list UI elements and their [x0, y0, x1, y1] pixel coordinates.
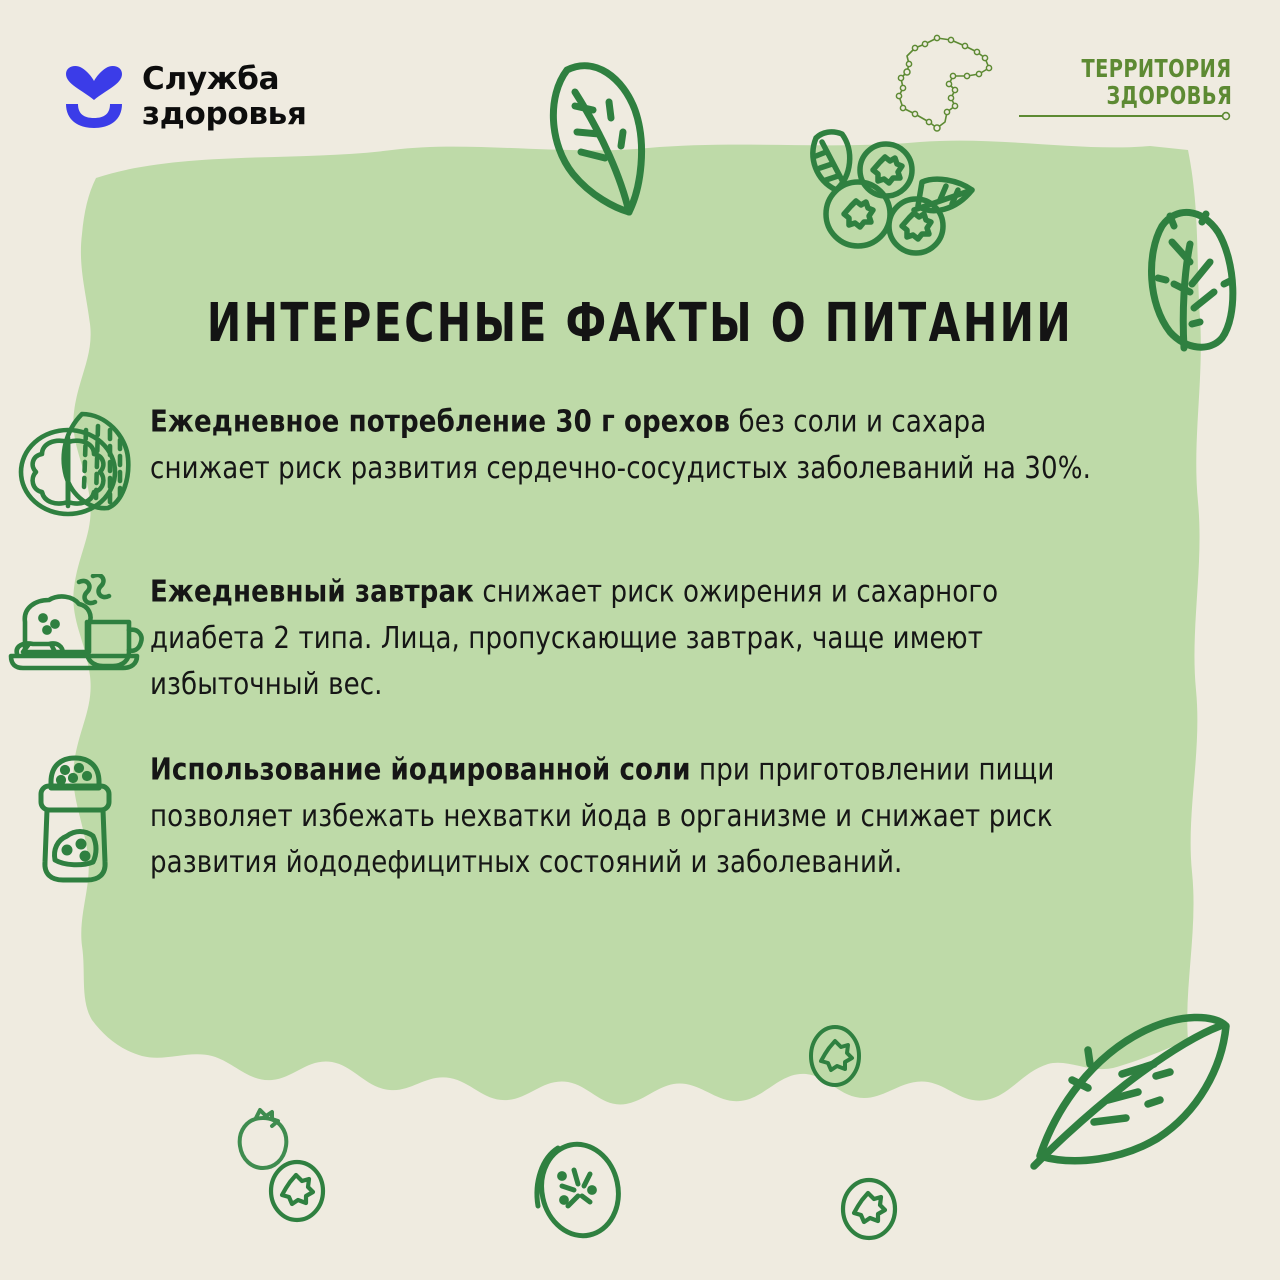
brand-name: Служба здоровья	[142, 62, 307, 131]
facts-list: Ежедневное потребление 30 г орехов без с…	[0, 398, 1280, 924]
leaf-bottom-right-icon	[1030, 1000, 1230, 1170]
salt-shaker-icon	[23, 752, 127, 884]
fact-2-text-bold: Ежедневный завтрак	[150, 573, 474, 609]
breakfast-tray-icon	[5, 574, 145, 684]
leaf-top-center-icon	[543, 48, 675, 218]
berry-slice-bottom-right-icon	[838, 1176, 900, 1242]
fact-2-text: Ежедневный завтрак снижает риск ожирения…	[150, 568, 1110, 707]
fact-1-icon-slot	[0, 398, 150, 522]
fact-3-text-bold: Использование йодированной соли	[150, 751, 691, 787]
walnut-icon	[14, 404, 136, 522]
berry-slice-bottom-left-icon	[266, 1158, 328, 1224]
territory-logo-text: ТЕРРИТОРИЯ ЗДОРОВЬЯ	[1017, 55, 1232, 122]
fact-2-icon-slot	[0, 568, 150, 684]
berry-cluster-icon	[796, 128, 976, 268]
territory-logo-line2: ЗДОРОВЬЯ	[1106, 82, 1232, 109]
fact-item-nuts: Ежедневное потребление 30 г орехов без с…	[0, 398, 1280, 522]
fact-item-breakfast: Ежедневный завтрак снижает риск ожирения…	[0, 568, 1280, 700]
fact-1-text: Ежедневное потребление 30 г орехов без с…	[150, 398, 1110, 491]
berry-slice-mid-right-icon	[805, 1022, 865, 1090]
territory-logo-line1: ТЕРРИТОРИЯ	[1082, 55, 1232, 82]
fact-3-text: Использование йодированной соли при приг…	[150, 746, 1110, 885]
fact-item-iodized-salt: Использование йодированной соли при приг…	[0, 746, 1280, 884]
region-map-outline-icon	[889, 34, 1011, 138]
territory-health-logo: ТЕРРИТОРИЯ ЗДОРОВЬЯ	[889, 34, 1232, 138]
fact-3-icon-slot	[0, 746, 150, 884]
heart-smile-logo-icon	[62, 64, 126, 130]
page-title: ИНТЕРЕСНЫЕ ФАКТЫ О ПИТАНИИ	[19, 292, 1261, 355]
cucumber-slice-icon	[528, 1132, 626, 1242]
brand-logo: Служба здоровья	[62, 62, 307, 131]
territory-logo-underline-icon	[1017, 110, 1232, 122]
fact-1-text-bold: Ежедневное потребление 30 г орехов	[150, 403, 730, 439]
infographic-canvas: Служба здоровья	[0, 0, 1280, 1280]
